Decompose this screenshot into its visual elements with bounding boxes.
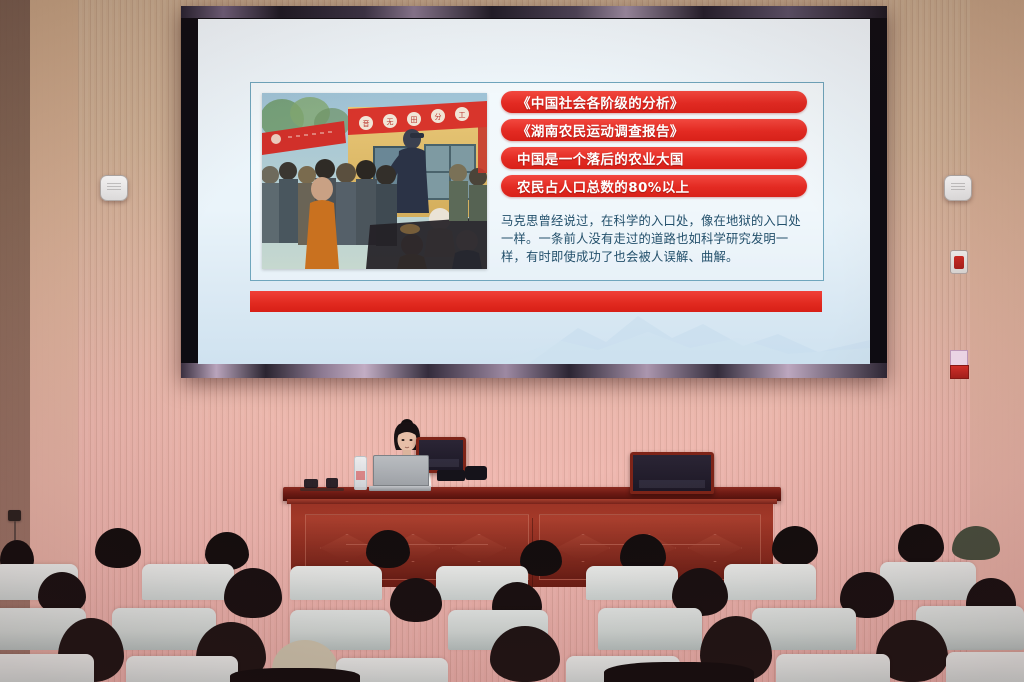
slide-bullet: 《湖南农民运动调查报告》 bbox=[501, 119, 807, 141]
audience-cap bbox=[952, 526, 1000, 560]
svg-text:工: 工 bbox=[459, 111, 466, 119]
microphone bbox=[465, 466, 487, 480]
seat-cover bbox=[0, 654, 94, 682]
slide-bullet: 《中国社会各阶级的分析》 bbox=[501, 91, 807, 113]
seat-cover bbox=[126, 656, 238, 682]
seat-cover bbox=[946, 652, 1024, 682]
slide-surface: 音无 田分工 bbox=[198, 19, 870, 364]
laptop-screen bbox=[373, 455, 429, 486]
svg-text:音: 音 bbox=[363, 119, 370, 128]
seat-cover bbox=[724, 564, 816, 600]
audience-shoulder bbox=[604, 662, 754, 682]
laptop-base bbox=[369, 486, 431, 491]
seat-cover bbox=[142, 564, 234, 600]
speaker-icon bbox=[100, 175, 128, 201]
slide-content-box: 音无 田分工 bbox=[250, 82, 824, 281]
screen-bezel-bottom bbox=[181, 363, 887, 378]
historical-painting-image: 音无 田分工 bbox=[262, 93, 487, 269]
slide-bullet: 中国是一个落后的农业大国 bbox=[501, 147, 807, 169]
audience-head bbox=[898, 524, 944, 564]
desk-cable bbox=[300, 488, 344, 491]
seat-cover bbox=[776, 654, 890, 682]
wall-socket-icon bbox=[8, 510, 21, 521]
audience-shoulder bbox=[230, 668, 360, 682]
slide-bullet: 农民占人口总数的80%以上 bbox=[501, 175, 807, 197]
guest-chair bbox=[630, 452, 714, 494]
slide-paragraph: 马克思曾经说过，在科学的入口处，像在地狱的入口处一样。一条前人没有走过的道路也如… bbox=[501, 213, 811, 266]
seat-cover bbox=[598, 608, 702, 650]
seat-cover bbox=[880, 562, 976, 600]
audience-head bbox=[390, 578, 442, 622]
projection-screen-unit: 音无 田分工 bbox=[181, 6, 887, 378]
audience-head bbox=[772, 526, 818, 566]
svg-text:田: 田 bbox=[411, 116, 418, 124]
svg-text:分: 分 bbox=[435, 112, 442, 121]
svg-text:无: 无 bbox=[387, 118, 394, 126]
audience-head bbox=[95, 528, 141, 568]
fire-extinguisher-box-icon bbox=[950, 365, 969, 379]
desk-item bbox=[304, 479, 318, 488]
audience-head bbox=[224, 568, 282, 618]
fire-extinguisher-sign-icon bbox=[950, 350, 968, 366]
slide-red-bar bbox=[250, 291, 822, 312]
fire-alarm-icon[interactable] bbox=[950, 250, 968, 274]
desk-item bbox=[326, 478, 338, 488]
microphone-base bbox=[437, 470, 465, 481]
audience-head bbox=[366, 530, 410, 568]
speaker-icon bbox=[944, 175, 972, 201]
laptop[interactable] bbox=[369, 455, 431, 488]
slide-bullet-list: 《中国社会各阶级的分析》 《湖南农民运动调查报告》 中国是一个落后的农业大国 农… bbox=[501, 91, 807, 203]
lecture-hall-scene: 音无 田分工 bbox=[0, 0, 1024, 682]
seat-cover bbox=[290, 566, 382, 600]
water-bottle bbox=[354, 456, 367, 490]
audience-seating bbox=[0, 522, 1024, 682]
seat-cover bbox=[586, 566, 678, 600]
screen-bezel-top bbox=[181, 6, 887, 18]
audience-head bbox=[490, 626, 560, 682]
